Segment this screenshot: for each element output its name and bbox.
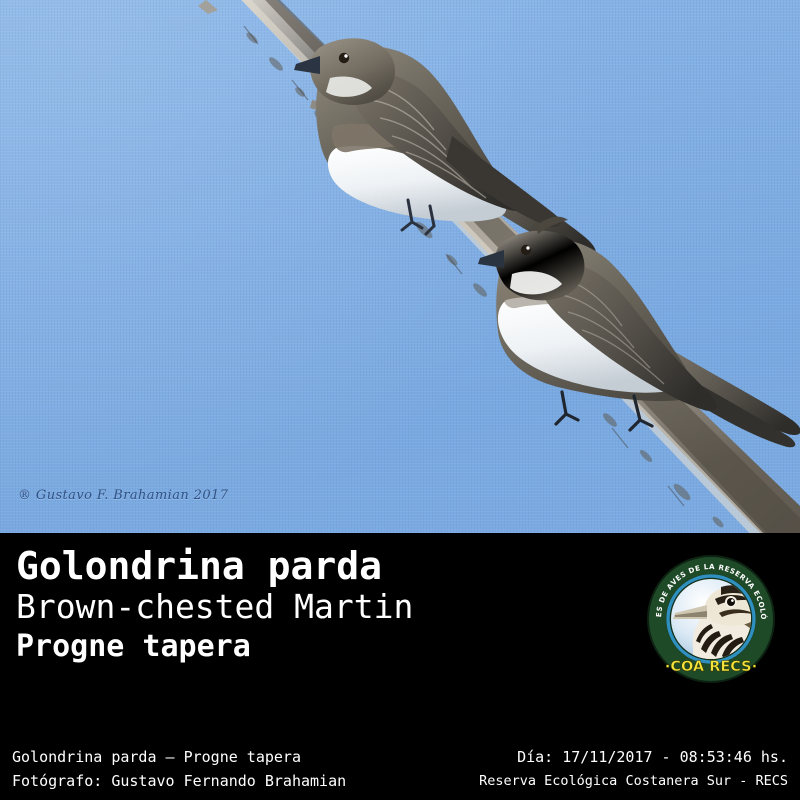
footer-location-line: Reserva Ecológica Costanera Sur - RECS: [479, 769, 788, 793]
bird-lower: [478, 217, 800, 448]
footer-right-column: Día: 17/11/2017 - 08:53:46 hs. Reserva E…: [479, 745, 788, 793]
logo-acronym: ·COA RECS·: [665, 659, 757, 675]
species-title-block: Golondrina parda Brown-chested Martin Pr…: [0, 533, 800, 727]
photo-card: ® Gustavo F. Brahamian 2017 Golondrina p…: [0, 0, 800, 800]
species-common-name-spanish: Golondrina parda: [16, 545, 382, 587]
coa-recs-logo[interactable]: CLUB DE OBSERVADORES DE AVES DE LA RESER…: [645, 553, 777, 685]
species-common-name-english: Brown-chested Martin: [16, 588, 413, 625]
footer-datetime-line: Día: 17/11/2017 - 08:53:46 hs.: [479, 745, 788, 769]
photo-metadata-footer: Golondrina parda — Progne tapera Fotógra…: [0, 727, 800, 800]
footer-left-column: Golondrina parda — Progne tapera Fotógra…: [12, 745, 346, 793]
footer-species-line: Golondrina parda — Progne tapera: [12, 745, 346, 769]
species-scientific-name: Progne tapera: [16, 630, 251, 664]
photo-subjects: [0, 0, 800, 533]
footer-photographer-line: Fotógrafo: Gustavo Fernando Brahamian: [12, 769, 346, 793]
bird-photograph: ® Gustavo F. Brahamian 2017: [0, 0, 800, 533]
coa-recs-logo-svg: CLUB DE OBSERVADORES DE AVES DE LA RESER…: [645, 553, 777, 685]
photographer-watermark: ® Gustavo F. Brahamian 2017: [18, 488, 228, 503]
